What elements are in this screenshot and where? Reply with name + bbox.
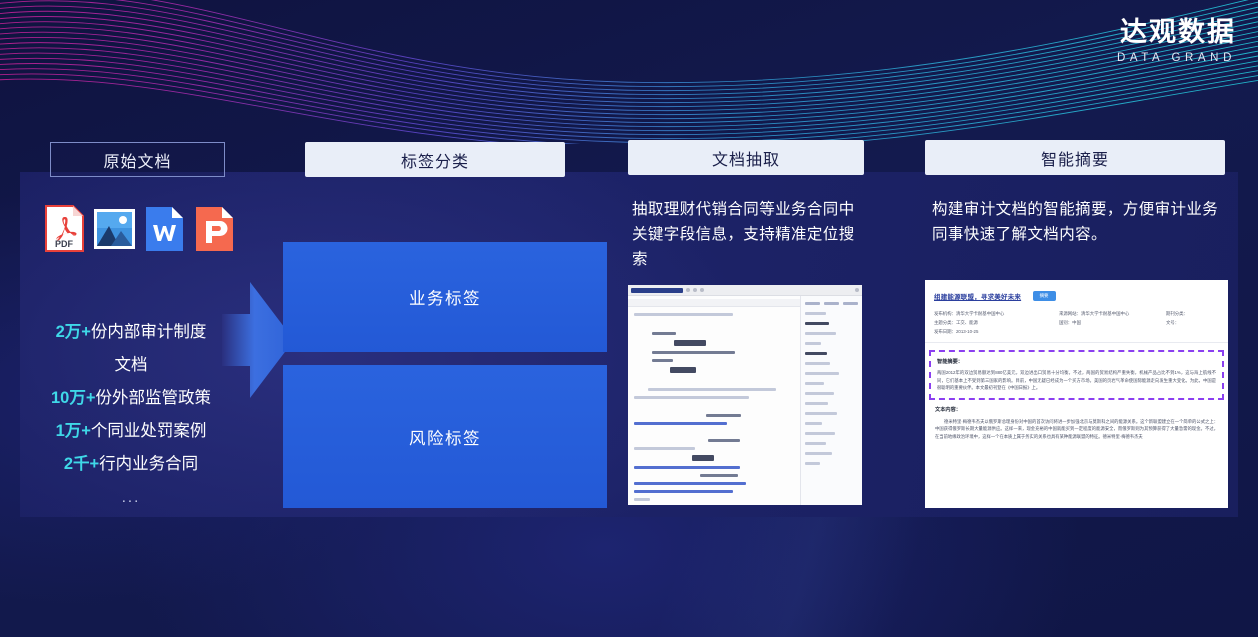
brand-logo: 达观数据 DATA GRAND [1117,18,1236,64]
metadata-cell: 主题分类：工交、能源 [934,318,1059,327]
panel-tab[interactable] [824,302,839,305]
stat-row: 10万+份外部监管政策 [20,382,242,415]
extraction-fields-panel[interactable] [800,296,862,505]
slide-canvas: 达观数据 DATA GRAND 原始文档 标签分类 文档抽取 智能摘要 PDF [0,0,1258,637]
brand-name-cn: 达观数据 [1117,18,1236,48]
tag-box-business[interactable]: 业务标签 [283,242,607,352]
pdf-file-icon: PDF [44,205,85,253]
metadata-row: 发布机构：清华大学卡耐基中国中心 来源网站：清华大学卡耐基中国中心 期刊分类： [934,309,1219,318]
stat-row: 2千+行内业务合同 [20,448,242,481]
metadata-cell: 来源网站：清华大学卡耐基中国中心 [1059,309,1166,318]
panel-tab[interactable] [843,302,858,305]
stat-text: 个同业处罚案例 [91,422,207,440]
document-pane[interactable] [628,296,800,505]
browser-toolbar [628,285,862,296]
stat-number: 10万+ [51,389,96,407]
panel-tabs[interactable] [805,302,858,305]
brand-name-en: DATA GRAND [1117,52,1236,64]
column-header-tag-classification: 标签分类 [305,142,565,177]
stat-number: 1万+ [56,422,91,440]
metadata-cell: 文号： [1166,318,1219,327]
stat-text: 文档 [115,356,148,374]
summary-badge: 摘要 [1033,291,1056,301]
column-header-original-document-label: 原始文档 [103,148,171,172]
summary-doc-title[interactable]: 组建能源联盟，寻求美好未来 [934,291,1021,301]
stat-row: 1万+个同业处罚案例 [20,415,242,448]
address-bar[interactable] [631,288,683,293]
stat-text: 份外部监管政策 [96,389,212,407]
column-header-original-document: 原始文档 [50,142,225,177]
column-header-document-extraction: 文档抽取 [628,140,864,175]
metadata-cell: 国别：中国 [1059,318,1166,327]
metadata-row: 主题分类：工交、能源 国别：中国 文号： [934,318,1219,327]
summary-doc-metadata: 发布机构：清华大学卡耐基中国中心 来源网站：清华大学卡耐基中国中心 期刊分类： … [925,309,1228,343]
file-type-icon-group: PDF [44,205,235,253]
stat-text: 行内业务合同 [99,455,198,473]
content-text: 德米特里·梅德韦杰夫以俄罗斯总理身份对中国的首次访问将进一步加强北京与莫斯科之间… [935,418,1218,441]
metadata-row: 发布日期：2013-10-25 [934,327,1219,336]
content-label: 文本内容： [935,406,1218,413]
stat-text: 份内部审计制度 [91,323,207,341]
tag-box-risk-label: 风险标签 [409,425,481,449]
tag-box-business-label: 业务标签 [409,285,481,309]
metadata-cell: 发布机构：清华大学卡耐基中国中心 [934,309,1059,318]
toolbar-dot-icon [693,288,697,292]
powerpoint-file-icon [194,205,235,253]
column-header-document-extraction-label: 文档抽取 [712,146,780,170]
word-file-icon [144,205,185,253]
toolbar-dot-icon [855,288,859,292]
document-pane-toolbar [628,299,800,307]
smart-summary-screenshot[interactable]: 组建能源联盟，寻求美好未来 摘要 发布机构：清华大学卡耐基中国中心 来源网站：清… [925,280,1228,508]
column-header-tag-classification-label: 标签分类 [401,148,469,172]
metadata-cell [1166,327,1219,336]
viewer-body [628,296,862,505]
document-extraction-screenshot[interactable] [628,285,862,505]
panel-tab[interactable] [805,302,820,305]
summary-abstract-highlight: 智能摘要： 两国2012年的双边贸易额达到880亿美元，双边进出口贸易十分均衡。… [929,350,1224,400]
toolbar-dot-icon [700,288,704,292]
stat-row: 2万+份内部审计制度 [20,316,242,349]
svg-text:PDF: PDF [55,239,74,249]
toolbar-dot-icon [686,288,690,292]
tag-box-risk[interactable]: 风险标签 [283,365,607,508]
stat-ellipsis: ... [20,481,242,514]
abstract-label: 智能摘要： [937,358,1216,365]
column-header-smart-summary: 智能摘要 [925,140,1225,175]
stat-row: 文档 [20,349,242,382]
extraction-description: 抽取理财代销合同等业务合同中关键字段信息，支持精准定位搜索 [632,197,856,272]
document-statistics: 2万+份内部审计制度 文档 10万+份外部监管政策 1万+个同业处罚案例 2千+… [20,316,242,514]
metadata-cell: 发布日期：2013-10-25 [934,327,1059,336]
abstract-text: 两国2012年的双边贸易额达到880亿美元，双边进出口贸易十分均衡。不过，两国的… [937,369,1216,392]
metadata-cell [1059,327,1166,336]
stat-number: 2千+ [64,455,99,473]
summary-doc-header: 组建能源联盟，寻求美好未来 摘要 [925,280,1228,309]
summary-description: 构建审计文档的智能摘要，方便审计业务同事快速了解文档内容。 [932,197,1230,247]
column-header-smart-summary-label: 智能摘要 [1041,146,1109,170]
stat-number: 2万+ [56,323,91,341]
metadata-cell: 期刊分类： [1166,309,1219,318]
summary-content-section: 文本内容： 德米特里·梅德韦杰夫以俄罗斯总理身份对中国的首次访问将进一步加强北京… [925,400,1228,441]
wave-decoration [0,0,1258,144]
image-file-icon [94,205,135,253]
